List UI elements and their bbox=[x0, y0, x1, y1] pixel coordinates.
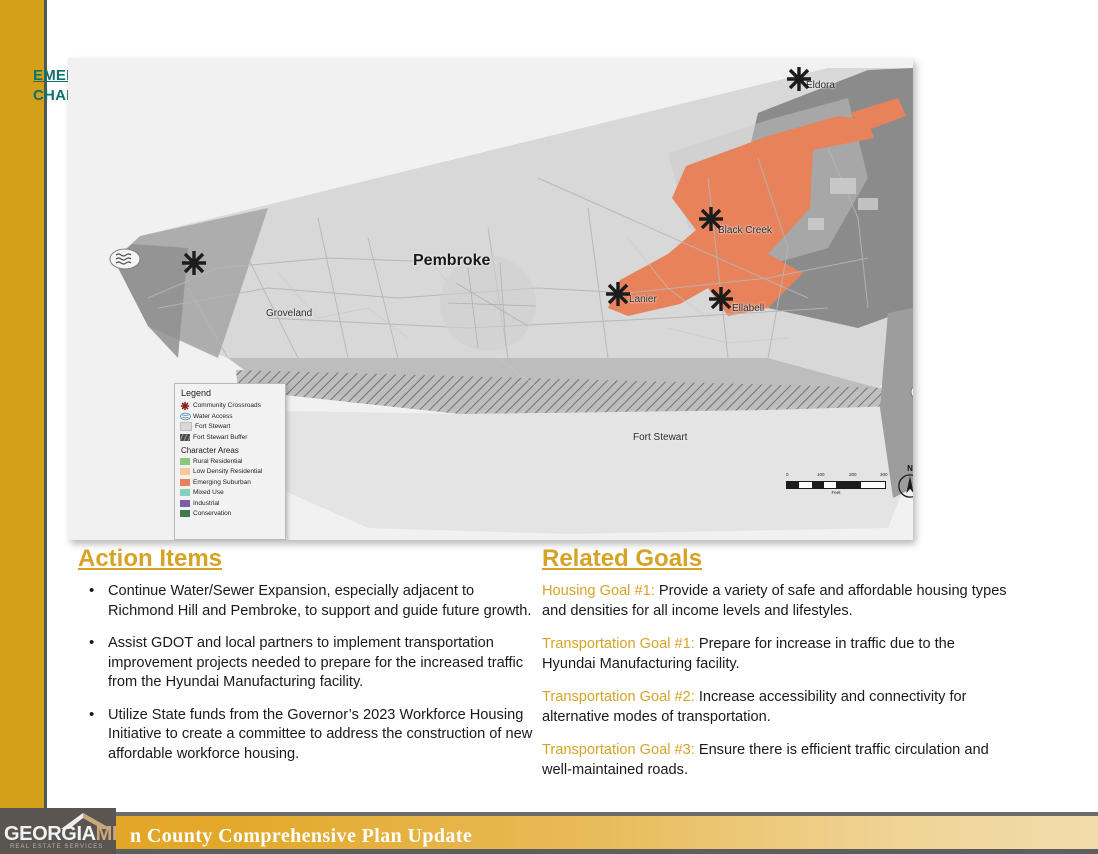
legend-label: Emerging Suburban bbox=[193, 479, 251, 486]
related-goals-heading: Related Goals bbox=[542, 545, 1012, 573]
page-right-margin bbox=[1071, 0, 1098, 816]
scale-tick-0: 0 bbox=[786, 472, 789, 477]
goal-label: Housing Goal #1: bbox=[542, 583, 655, 599]
legend-label: Fort Stewart Buffer bbox=[193, 434, 247, 441]
goal-item: Transportation Goal #3: Ensure there is … bbox=[542, 741, 1012, 780]
footer-title: n County Comprehensive Plan Update bbox=[130, 825, 472, 848]
scale-tick-labels: 0 100 200 300 bbox=[786, 472, 886, 481]
swatch-mixed-use bbox=[180, 489, 190, 496]
list-item: Utilize State funds from the Governor’s … bbox=[78, 706, 543, 765]
legend-label: Rural Residential bbox=[193, 458, 243, 465]
goal-label: Transportation Goal #2: bbox=[542, 689, 695, 705]
water-icon-west bbox=[109, 248, 141, 270]
list-item: Continue Water/Sewer Expansion, especial… bbox=[78, 582, 543, 621]
swatch-fort-stewart-buffer bbox=[180, 434, 190, 441]
swatch-low-density-residential bbox=[180, 468, 190, 475]
asterisk-icon-black-creek bbox=[698, 206, 724, 232]
scale-unit-label: Feet bbox=[786, 490, 886, 495]
goal-label: Transportation Goal #1: bbox=[542, 636, 695, 652]
list-item: Assist GDOT and local partners to implem… bbox=[78, 634, 543, 693]
map-scale-bar: 0 100 200 300 Feet bbox=[786, 472, 886, 495]
legend-row-mixed-use: Mixed Use bbox=[180, 488, 280, 497]
legend-row-fort-stewart: Fort Stewart bbox=[180, 422, 280, 431]
asterisk-icon bbox=[180, 401, 190, 410]
asterisk-icon-ellabell bbox=[708, 286, 734, 312]
legend-label: Conservation bbox=[193, 510, 231, 517]
swatch-conservation bbox=[180, 510, 190, 517]
asterisk-icon-lanier bbox=[605, 281, 631, 307]
action-items-column: Action Items Continue Water/Sewer Expans… bbox=[78, 545, 543, 777]
georgia-mls-watermark-logo: GEORGIAMLS REAL ESTATE SERVICES bbox=[0, 808, 116, 854]
legend-label: Community Crossroads bbox=[193, 402, 261, 409]
logo-primary: GEORGIA bbox=[4, 823, 96, 845]
legend-row-conservation: Conservation bbox=[180, 509, 280, 518]
action-items-list: Continue Water/Sewer Expansion, especial… bbox=[78, 582, 543, 764]
map-label-ellabell: Ellabell bbox=[732, 303, 764, 314]
asterisk-icon-groveland bbox=[181, 250, 207, 276]
action-items-heading: Action Items bbox=[78, 545, 543, 573]
legend-row-emerging-suburban: Emerging Suburban bbox=[180, 478, 280, 487]
legend-subtitle: Character Areas bbox=[181, 446, 280, 455]
logo-wordmark: GEORGIAMLS bbox=[4, 823, 116, 846]
logo-tagline: REAL ESTATE SERVICES bbox=[10, 844, 103, 850]
footer-bottom-edge bbox=[0, 849, 1098, 854]
legend-row-rural-residential: Rural Residential bbox=[180, 457, 280, 466]
swatch-fort-stewart bbox=[180, 422, 192, 431]
map-label-pembroke: Pembroke bbox=[413, 252, 490, 270]
compass-icon bbox=[897, 473, 913, 499]
related-goals-column: Related Goals Housing Goal #1: Provide a… bbox=[542, 545, 1012, 794]
map-label-black-creek: Black Creek bbox=[718, 225, 772, 236]
legend-label: Mixed Use bbox=[193, 489, 224, 496]
legend-row-industrial: Industrial bbox=[180, 499, 280, 508]
swatch-emerging-suburban bbox=[180, 479, 190, 486]
swatch-rural-residential bbox=[180, 458, 190, 465]
legend-row-water-access: Water Access bbox=[180, 412, 280, 421]
legend-label: Low Density Residential bbox=[193, 468, 262, 475]
scale-tick-1: 100 bbox=[817, 472, 825, 477]
legend-row-community-crossroads: Community Crossroads bbox=[180, 401, 280, 410]
north-arrow: N bbox=[896, 464, 913, 504]
left-gold-rail bbox=[0, 0, 44, 816]
scale-tick-2: 200 bbox=[849, 472, 857, 477]
legend-row-fort-stewart-buffer: Fort Stewart Buffer bbox=[180, 433, 280, 442]
map-legend: Legend Community Crossroads Water Access… bbox=[174, 383, 286, 540]
north-arrow-label: N bbox=[896, 464, 913, 473]
legend-label: Industrial bbox=[193, 500, 219, 507]
goal-item: Transportation Goal #1: Prepare for incr… bbox=[542, 635, 1012, 674]
legend-title: Legend bbox=[181, 388, 280, 398]
legend-label: Fort Stewart bbox=[195, 423, 230, 430]
water-icon-east bbox=[910, 381, 913, 403]
legend-label: Water Access bbox=[193, 413, 233, 420]
asterisk-icon-eldora bbox=[786, 66, 812, 92]
legend-row-low-density-residential: Low Density Residential bbox=[180, 467, 280, 476]
goal-label: Transportation Goal #3: bbox=[542, 742, 695, 758]
scale-blocks bbox=[786, 481, 886, 489]
goal-item: Housing Goal #1: Provide a variety of sa… bbox=[542, 582, 1012, 621]
logo-secondary: MLS bbox=[96, 823, 116, 845]
water-icon bbox=[180, 412, 190, 421]
swatch-industrial bbox=[180, 500, 190, 507]
character-areas-map: Groveland Pembroke Eldora Black Creek La… bbox=[68, 58, 913, 540]
map-label-fort-stewart: Fort Stewart bbox=[633, 432, 687, 443]
scale-tick-3: 300 bbox=[880, 472, 888, 477]
map-label-groveland: Groveland bbox=[266, 308, 312, 319]
map-label-lanier: Lanier bbox=[629, 294, 657, 305]
goal-item: Transportation Goal #2: Increase accessi… bbox=[542, 688, 1012, 727]
